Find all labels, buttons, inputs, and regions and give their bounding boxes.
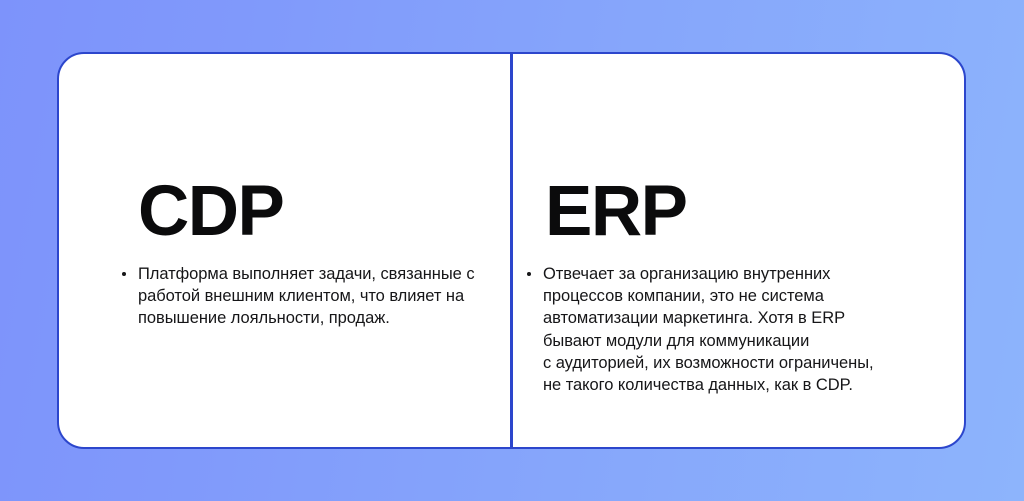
heading-cdp: CDP [138,176,283,247]
column-cdp: CDP Платформа выполняет задачи, связанны… [59,54,510,447]
comparison-slide: CDP Платформа выполняет задачи, связанны… [0,0,1024,501]
comparison-card: CDP Платформа выполняет задачи, связанны… [57,52,966,449]
column-erp: ERP Отвечает за организацию внутренних п… [513,54,964,447]
bullet-list-erp: Отвечает за организацию внутренних проце… [526,263,876,396]
heading-erp: ERP [545,176,687,247]
bullet-list-cdp: Платформа выполняет задачи, связанные с … [121,263,481,330]
list-item: Платформа выполняет задачи, связанные с … [121,263,481,330]
list-item: Отвечает за организацию внутренних проце… [526,263,876,396]
